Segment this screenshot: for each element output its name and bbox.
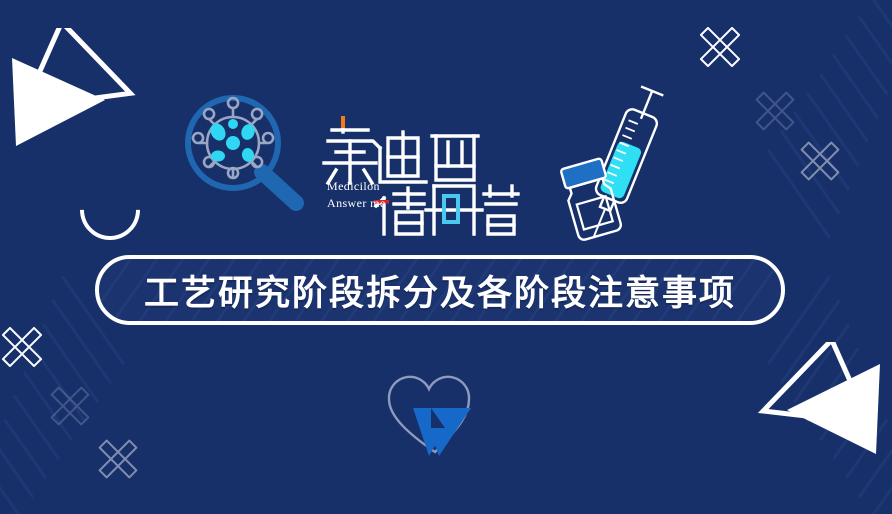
magnifier-virus-icon [178,88,310,216]
x-mark-top-right-faint [775,95,815,135]
page-title: 工艺研究阶段拆分及各阶段注意事项 [144,265,736,316]
title-pill: 工艺研究阶段拆分及各阶段注意事项 [95,255,785,325]
x-mark-top-right-bright [720,30,762,72]
open-arc-icon [68,168,153,253]
triangle-pair-top-left-icon [0,28,150,168]
banner-root: Medicilon Answer me [0,0,892,514]
logo-tagline-en: Answer me [327,195,386,212]
x-mark-bottom-left-medium [118,443,158,483]
triangle-pair-bottom-right-icon [737,342,892,492]
syringe-vial-icon [552,76,678,242]
x-mark-bottom-left-bright [22,330,64,372]
x-mark-bottom-left-faint [70,390,110,430]
heart-check-icon [383,372,487,458]
medicilon-logo: Medicilon Answer me [322,108,522,240]
x-mark-top-right-medium [820,145,860,185]
logo-name-en: Medicilon [327,178,386,195]
logo-english-text: Medicilon Answer me [327,178,386,212]
